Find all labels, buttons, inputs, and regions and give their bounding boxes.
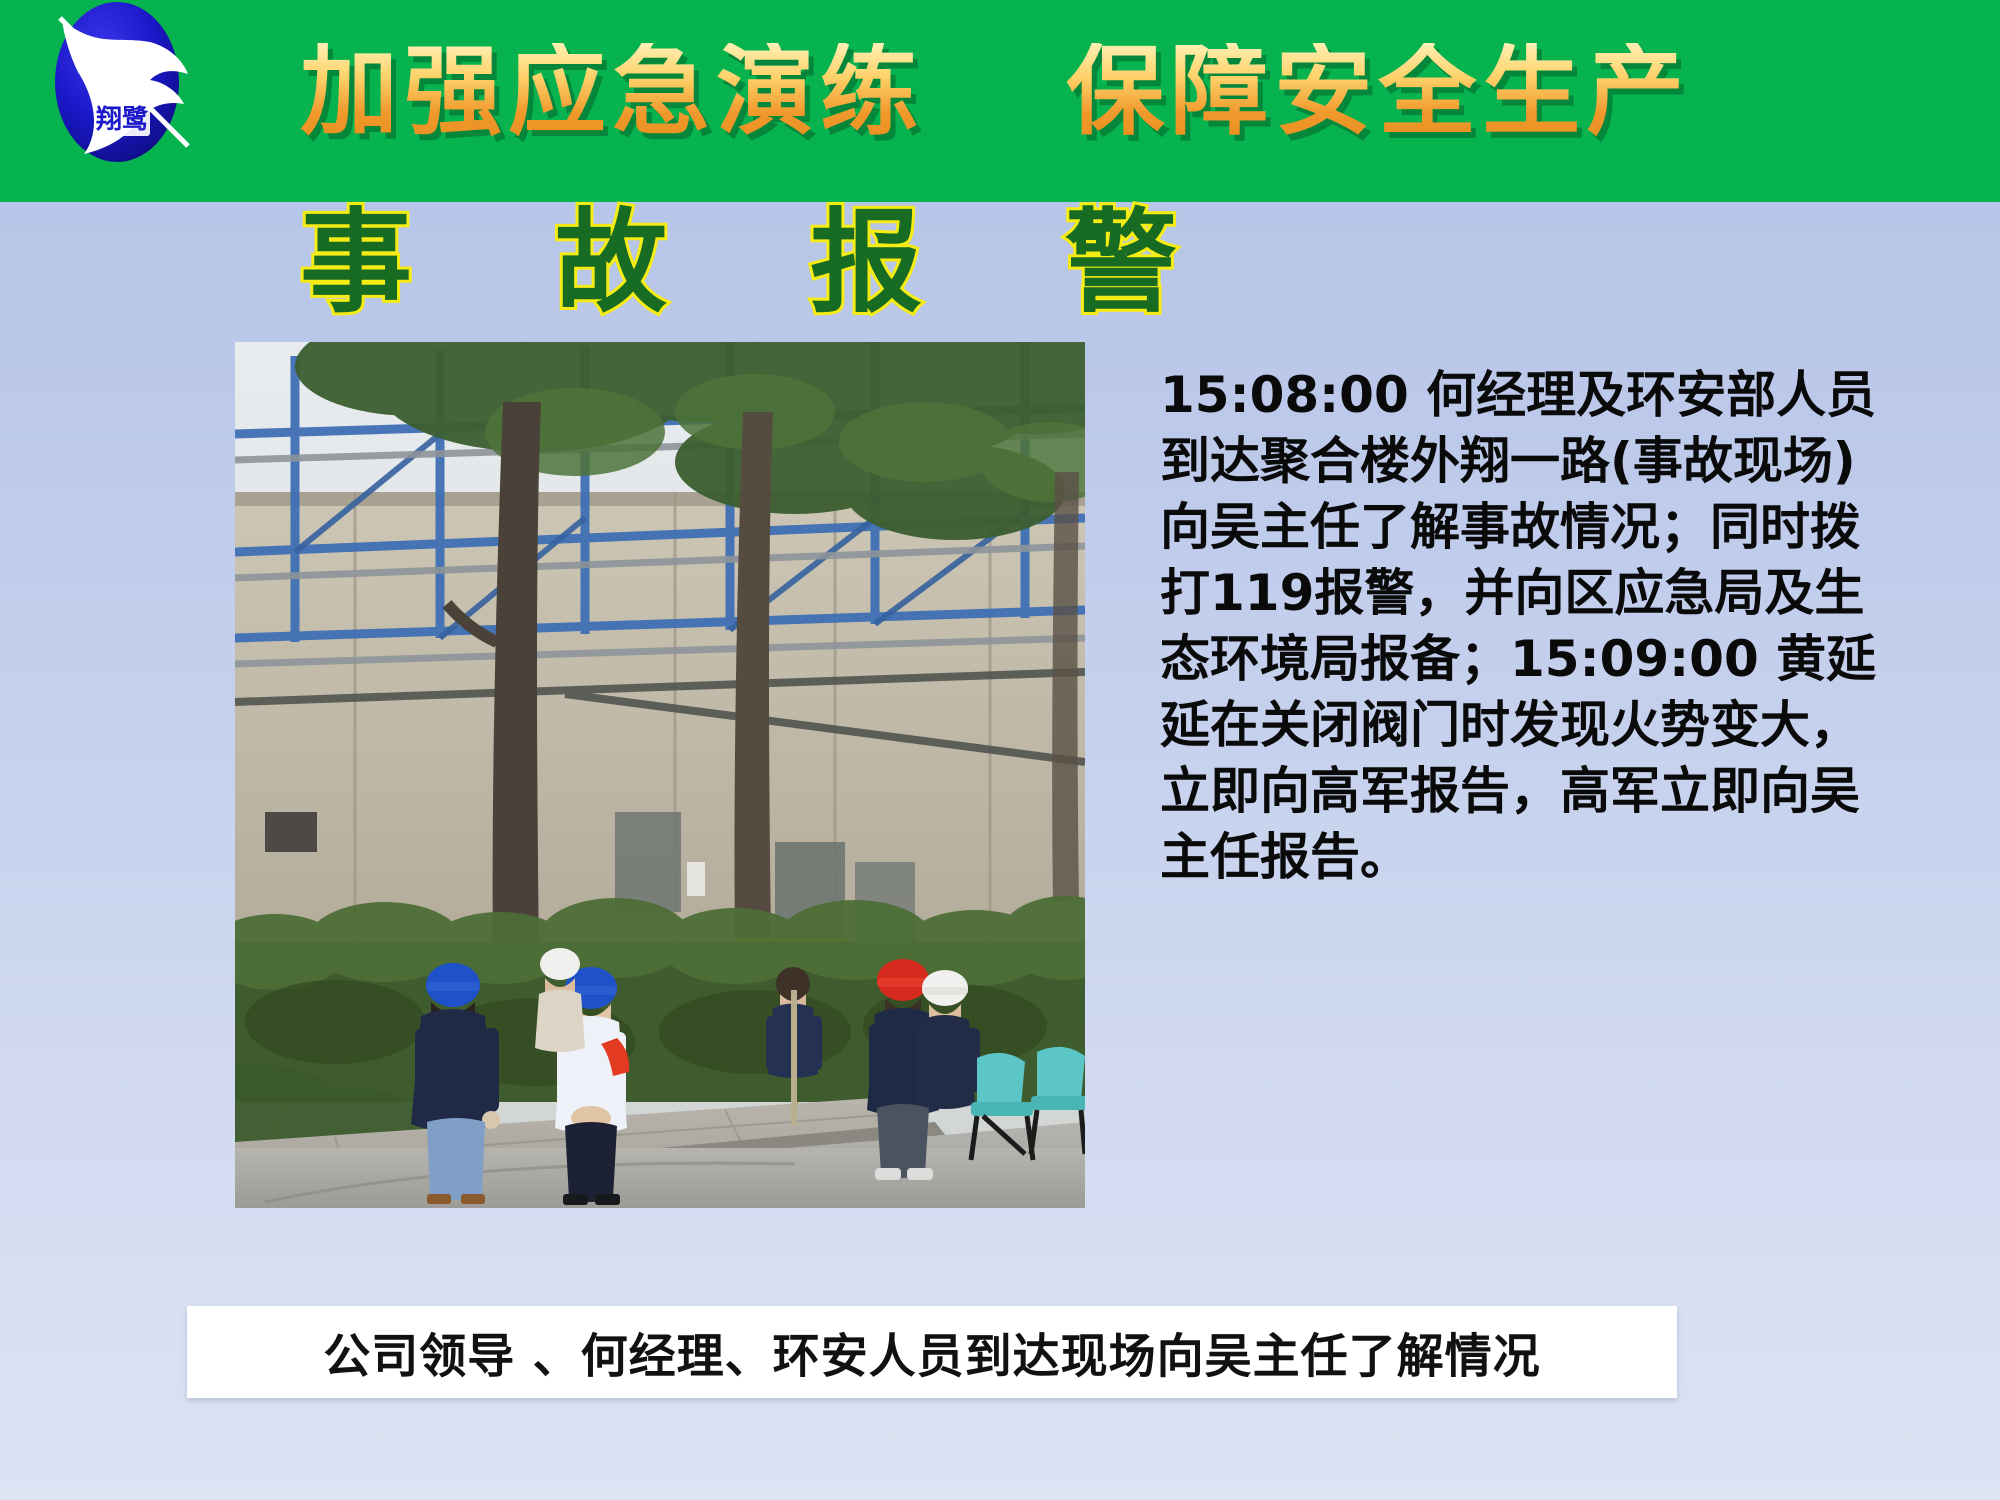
banner-phrase-left: 加强应急演练 [300, 35, 924, 149]
incident-timeline-text: 15:08:00 何经理及环安部人员到达聚合楼外翔一路(事故现场)向吴主任了解事… [1160, 362, 1900, 890]
photo-caption-box: 公司领导 、何经理、环安人员到达现场向吴主任了解情况 [187, 1306, 1677, 1398]
slide-root: 翔鹭 加强应急演练 保障安全生产 事 故 报 警 [0, 0, 2000, 1500]
banner-headline: 加强应急演练 保障安全生产 [300, 22, 2000, 162]
svg-text:翔鹭: 翔鹭 [96, 105, 149, 135]
scene-photograph: 应急指挥中心 [235, 342, 1085, 1208]
photo-caption-text: 公司领导 、何经理、环安人员到达现场向吴主任了解情况 [187, 1318, 1677, 1387]
xianglu-logo: 翔鹭 [38, 0, 196, 168]
header-banner: 翔鹭 加强应急演练 保障安全生产 [0, 0, 2000, 202]
banner-phrase-right: 保障安全生产 [1066, 35, 1690, 149]
person-white-helmet-behind [535, 948, 585, 1052]
incident-paragraph: 15:08:00 何经理及环安部人员到达聚合楼外翔一路(事故现场)向吴主任了解事… [1160, 362, 1900, 890]
page-title: 事 故 报 警 [300, 205, 1229, 323]
